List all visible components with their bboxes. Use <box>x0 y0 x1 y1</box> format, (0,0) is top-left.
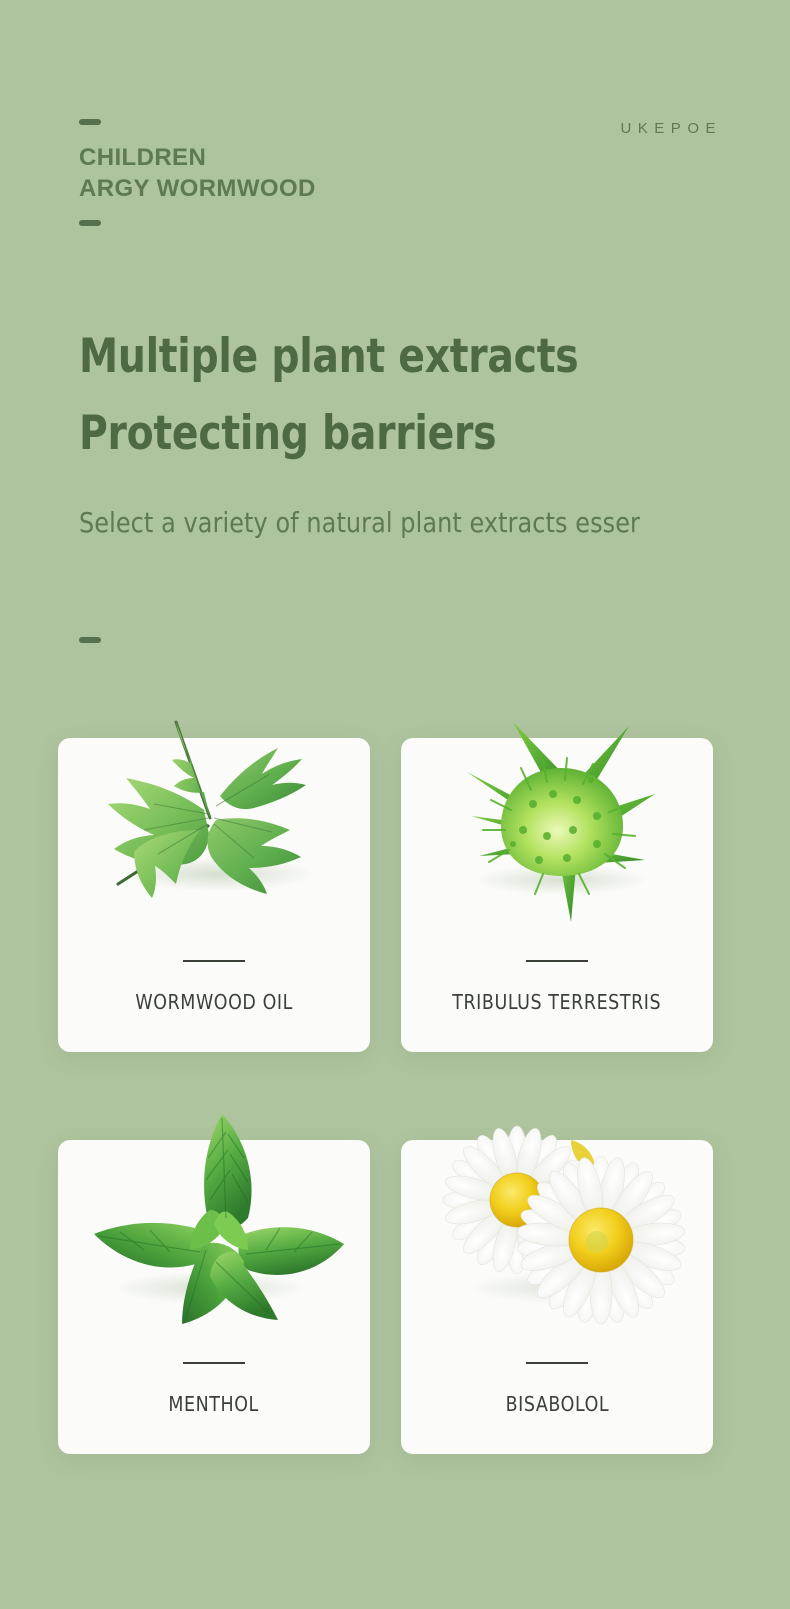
promo-page: CHILDREN ARGY WORMWOOD UKEPOE Multiple p… <box>0 0 790 1609</box>
ingredient-card-menthol[interactable]: MENTHOL <box>58 1140 370 1454</box>
ingredient-row: MENTHOL <box>58 1140 714 1454</box>
chamomile-flowers-image <box>401 1088 713 1320</box>
tribulus-fruit-image <box>401 684 713 920</box>
ingredient-label: TRIBULUS TERRESTRIS <box>453 990 662 1014</box>
card-divider <box>526 1362 588 1364</box>
headline-line-2: Protecting barriers <box>79 395 786 472</box>
ingredient-card-tribulus-terrestris[interactable]: TRIBULUS TERRESTRIS <box>401 738 713 1052</box>
brand-logo: UKEPOE <box>620 120 722 137</box>
wormwood-leaf-image <box>58 678 370 918</box>
card-divider <box>183 960 245 962</box>
ingredient-grid: WORMWOOD OIL <box>58 738 714 1454</box>
ingredient-label: BISABOLOL <box>505 1392 609 1416</box>
page-subtitle: Select a variety of natural plant extrac… <box>79 503 790 543</box>
dash-accent-bottom-icon <box>79 220 101 226</box>
dash-accent-top-icon <box>79 119 101 125</box>
kicker-line-1: CHILDREN <box>79 142 316 173</box>
card-divider <box>183 1362 245 1364</box>
kicker-line-2: ARGY WORMWOOD <box>79 173 316 204</box>
ingredient-row: WORMWOOD OIL <box>58 738 714 1052</box>
ingredient-card-wormwood-oil[interactable]: WORMWOOD OIL <box>58 738 370 1052</box>
ingredient-label: WORMWOOD OIL <box>135 990 292 1014</box>
page-title: Multiple plant extracts Protecting barri… <box>79 318 790 472</box>
mint-leaves-image <box>58 1092 370 1324</box>
card-divider <box>526 960 588 962</box>
dash-accent-middle-icon <box>79 637 101 643</box>
ingredient-label: MENTHOL <box>169 1392 259 1416</box>
header-block: CHILDREN ARGY WORMWOOD <box>79 119 316 226</box>
headline-line-1: Multiple plant extracts <box>79 318 786 395</box>
ingredient-card-bisabolol[interactable]: BISABOLOL <box>401 1140 713 1454</box>
